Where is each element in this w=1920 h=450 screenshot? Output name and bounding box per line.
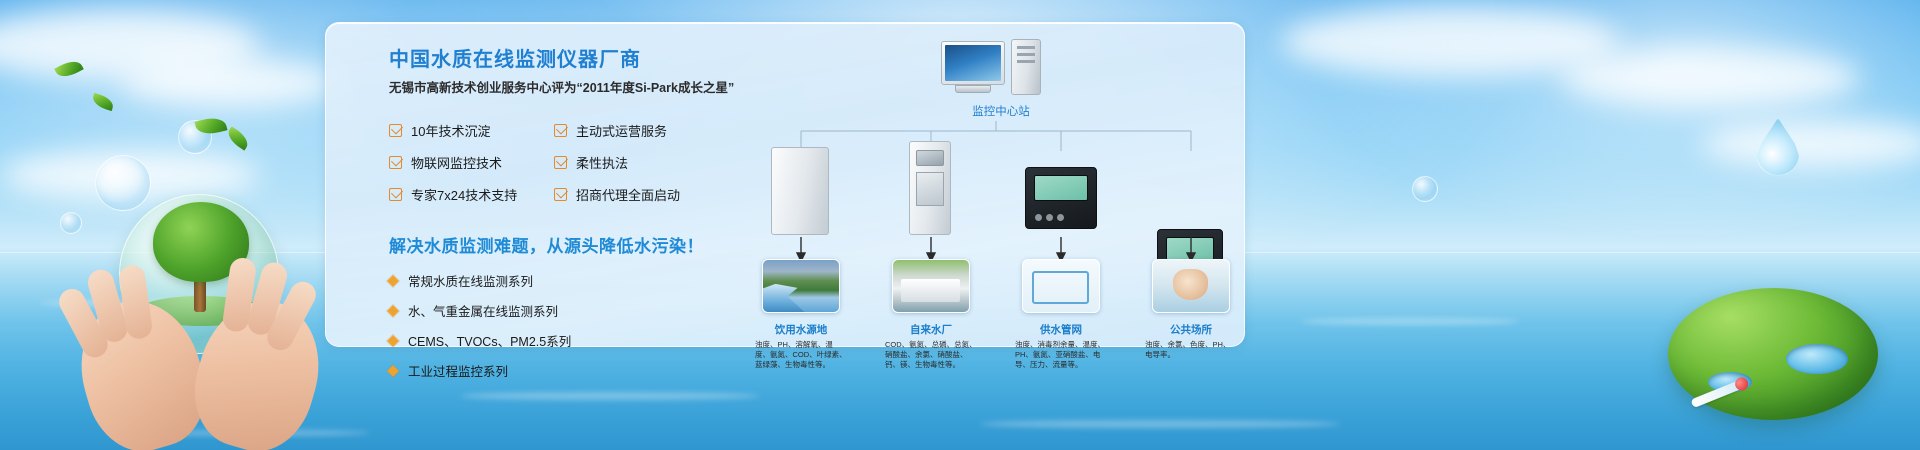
water-cabinet-icon: [771, 147, 829, 235]
checkbox-checked-icon: [554, 188, 567, 201]
earth-lake: [1786, 344, 1848, 374]
feature-label: 柔性执法: [576, 153, 628, 172]
server-tower-icon: [1011, 39, 1041, 95]
scenario-photos-row: [761, 259, 1231, 323]
waterworks-plant-photo: [892, 259, 970, 313]
hands-holding-tree-illustration: [75, 160, 325, 450]
pipeline-diagram-photo: [1022, 259, 1100, 313]
controller-panel-icon: [1025, 167, 1097, 229]
list-item: 水、气重金属在线监测系列: [389, 301, 744, 320]
bubble-decoration: [1412, 176, 1438, 202]
scenario-caption: 公共场所 浊度、余氯、色度、PH、电导率。: [1145, 323, 1237, 360]
scenario-caption: 供水管网 浊度、消毒剂余量、温度、PH、氨氮、亚硝酸盐、电导、压力、流量等。: [1015, 323, 1107, 370]
diamond-bullet-icon: [387, 365, 398, 376]
card-subtitle: 无锡市高新技术创业服务中心评为“2011年度Si-Park成长之星”: [389, 77, 744, 99]
diamond-bullet-icon: [387, 275, 398, 286]
system-topology-diagram: 监控中心站: [761, 37, 1231, 347]
scenario-caption: 自来水厂 COD、氨氮、总磷、总氮、硝酸盐、余氯、硝酸盐、钙、镁、生物毒性等。: [885, 323, 977, 370]
feature-label: 招商代理全面启动: [576, 185, 680, 204]
faucet-handwash-photo: [1152, 259, 1230, 313]
feature-item: 主动式运营服务: [554, 121, 719, 140]
diamond-bullet-icon: [387, 335, 398, 346]
checkbox-checked-icon: [389, 156, 402, 169]
water-shimmer: [980, 420, 1340, 428]
card-text-column: 中国水质在线监测仪器厂商 无锡市高新技术创业服务中心评为“2011年度Si-Pa…: [389, 45, 744, 391]
field-devices-row: [761, 141, 1231, 241]
list-item: 工业过程监控系列: [389, 361, 744, 380]
analyzer-cabinet-icon: [909, 141, 951, 235]
list-item: CEMS、TVOCs、PM2.5系列: [389, 331, 744, 350]
feature-list: 10年技术沉淀 主动式运营服务 物联网监控技术 柔性执法 专家7x24技术支持 …: [389, 121, 744, 204]
water-shimmer: [1300, 318, 1520, 325]
product-series-list: 常规水质在线监测系列 水、气重金属在线监测系列 CEMS、TVOCs、PM2.5…: [389, 271, 744, 380]
promo-card: 中国水质在线监测仪器厂商 无锡市高新技术创业服务中心评为“2011年度Si-Pa…: [325, 22, 1245, 347]
list-item: 常规水质在线监测系列: [389, 271, 744, 290]
feature-item: 招商代理全面启动: [554, 185, 719, 204]
scenario-desc: COD、氨氮、总磷、总氮、硝酸盐、余氯、硝酸盐、钙、镁、生物毒性等。: [885, 340, 977, 370]
checkbox-checked-icon: [389, 188, 402, 201]
cloud-decoration: [120, 60, 340, 106]
scenario-desc: 浊度、消毒剂余量、温度、PH、氨氮、亚硝酸盐、电导、压力、流量等。: [1015, 340, 1107, 370]
page-title: 中国水质在线监测仪器厂商: [389, 45, 744, 75]
leaf-decoration: [91, 93, 116, 111]
desktop-monitor-icon: [941, 41, 1005, 85]
water-shimmer: [460, 392, 760, 400]
series-label: 常规水质在线监测系列: [408, 271, 533, 290]
checkbox-checked-icon: [389, 124, 402, 137]
leaf-decoration: [54, 57, 84, 82]
series-label: CEMS、TVOCs、PM2.5系列: [408, 331, 571, 350]
checkbox-checked-icon: [554, 156, 567, 169]
scenario-title: 公共场所: [1145, 323, 1237, 337]
series-label: 水、气重金属在线监测系列: [408, 301, 558, 320]
feature-label: 专家7x24技术支持: [411, 185, 517, 204]
center-station-label: 监控中心站: [906, 103, 1096, 119]
series-label: 工业过程监控系列: [408, 361, 508, 380]
cloud-decoration: [0, 10, 260, 80]
cloud-decoration: [1280, 6, 1620, 78]
checkbox-checked-icon: [554, 124, 567, 137]
feature-item: 物联网监控技术: [389, 153, 554, 172]
cloud-decoration: [1560, 48, 1860, 108]
scenario-captions-row: 饮用水源地 浊度、PH、溶解氧、温度、氨氮、COD、叶绿素、蓝绿藻、生物毒性等。…: [761, 323, 1231, 383]
feature-item: 10年技术沉淀: [389, 121, 554, 140]
green-earth-illustration: [1668, 288, 1878, 420]
feature-label: 主动式运营服务: [576, 121, 667, 140]
scenario-title: 饮用水源地: [755, 323, 847, 337]
river-landscape-photo: [762, 259, 840, 313]
feature-item: 专家7x24技术支持: [389, 185, 554, 204]
water-droplet-icon: [1756, 118, 1800, 176]
scenario-desc: 浊度、余氯、色度、PH、电导率。: [1145, 340, 1237, 360]
scenario-title: 自来水厂: [885, 323, 977, 337]
scenario-desc: 浊度、PH、溶解氧、温度、氨氮、COD、叶绿素、蓝绿藻、生物毒性等。: [755, 340, 847, 370]
diamond-bullet-icon: [387, 305, 398, 316]
feature-label: 物联网监控技术: [411, 153, 502, 172]
scenario-title: 供水管网: [1015, 323, 1107, 337]
feature-label: 10年技术沉淀: [411, 121, 490, 140]
secondary-headline: 解决水质监测难题，从源头降低水污染！: [389, 232, 744, 257]
cloud-decoration: [1700, 120, 1920, 168]
monitor-stand: [955, 85, 991, 93]
monitoring-center-equipment: [941, 41, 1061, 99]
scenario-caption: 饮用水源地 浊度、PH、溶解氧、温度、氨氮、COD、叶绿素、蓝绿藻、生物毒性等。: [755, 323, 847, 370]
leaf-decoration: [224, 126, 251, 150]
feature-item: 柔性执法: [554, 153, 719, 172]
